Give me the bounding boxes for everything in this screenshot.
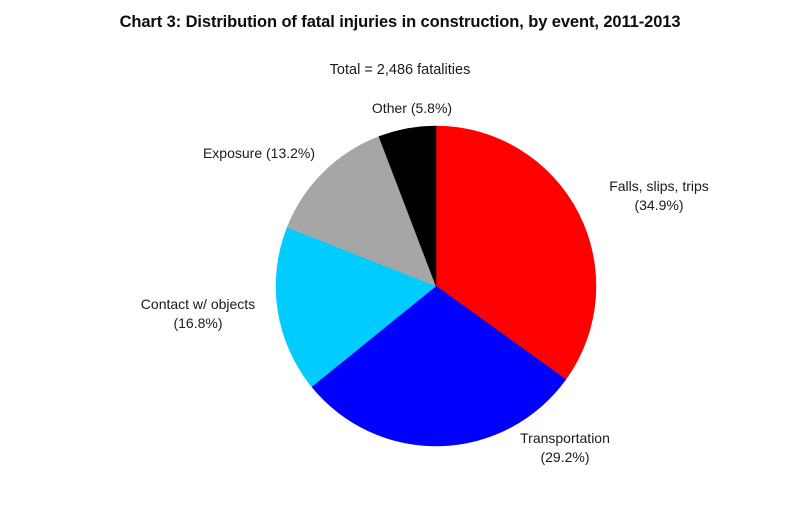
pie-chart-figure: Chart 3: Distribution of fatal injuries … [0,0,800,500]
slice-label-contact-line2: (16.8%) [118,314,278,333]
slice-label-falls-line1: Falls, slips, trips [583,177,735,196]
slice-label-falls-slips-trips: Falls, slips, trips (34.9%) [583,177,735,215]
slice-label-transportation-line2: (29.2%) [494,448,636,467]
slice-label-falls-line2: (34.9%) [583,196,735,215]
slice-label-contact-line1: Contact w/ objects [118,295,278,314]
slice-label-other-line1: Other (5.8%) [350,99,474,118]
slice-label-contact-with-objects: Contact w/ objects (16.8%) [118,295,278,333]
pie-plot-area [0,0,800,500]
slice-label-exposure-line1: Exposure (13.2%) [186,144,332,163]
slice-label-transportation-line1: Transportation [494,429,636,448]
slice-label-other: Other (5.8%) [350,99,474,118]
pie-svg [0,0,800,500]
slice-label-exposure: Exposure (13.2%) [186,144,332,163]
slice-label-transportation: Transportation (29.2%) [494,429,636,467]
